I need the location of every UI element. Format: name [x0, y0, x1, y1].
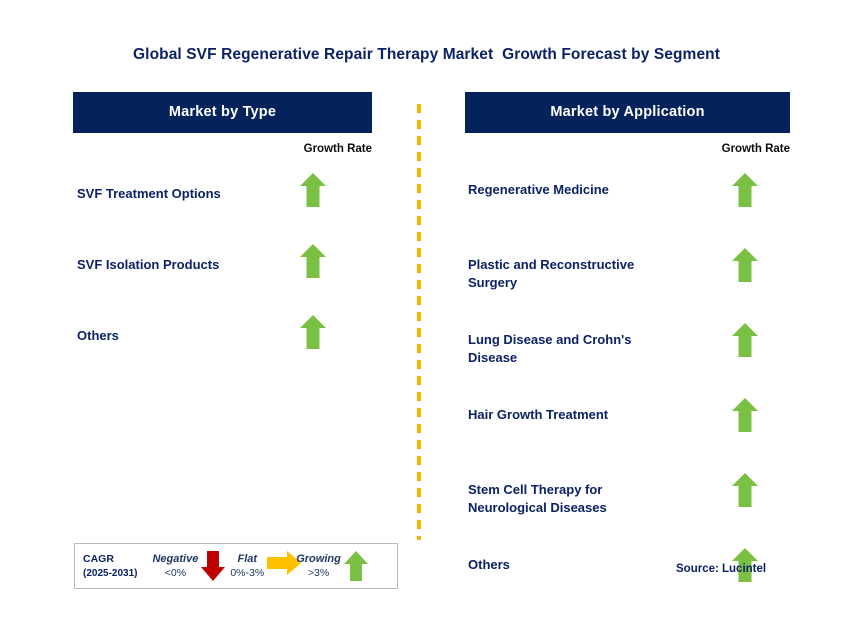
table-row: Regenerative Medicine: [465, 173, 790, 248]
legend-cagr-years: (2025-2031): [83, 568, 137, 579]
legend-box: CAGR (2025-2031) Negative <0% Flat 0%-3%: [74, 543, 398, 589]
legend-item-growing: Growing >3%: [293, 551, 368, 581]
table-row: SVF Treatment Options: [73, 173, 372, 244]
table-row: Plastic and Reconstructive Surgery: [465, 248, 790, 323]
growth-indicator-cell: [290, 173, 336, 207]
arrow-up-icon: [732, 248, 758, 282]
segment-label: Plastic and Reconstructive Surgery: [465, 248, 722, 292]
table-row: Hair Growth Treatment: [465, 398, 790, 473]
arrow-down-icon: [201, 551, 225, 581]
growth-indicator-cell: [722, 323, 768, 357]
legend-cagr-label: CAGR: [83, 553, 114, 565]
segment-rows-application: Regenerative Medicine Plastic and Recons…: [465, 173, 790, 623]
arrow-up-icon: [300, 244, 326, 278]
legend-item-flat: Flat 0%-3%: [227, 551, 291, 581]
table-row: Others: [73, 315, 372, 386]
segment-label: Others: [73, 315, 290, 345]
infographic-canvas: Global SVF Regenerative Repair Therapy M…: [0, 0, 853, 635]
arrow-right-icon: [267, 551, 291, 581]
growth-indicator-cell: [722, 248, 768, 282]
panel-market-by-application: Market by Application Growth Rate Regene…: [465, 92, 790, 133]
segment-rows-type: SVF Treatment Options SVF Isolation Prod…: [73, 173, 372, 386]
table-row: Lung Disease and Crohn's Disease: [465, 323, 790, 398]
legend-flat-text: Flat 0%-3%: [227, 552, 267, 580]
arrow-up-icon: [732, 173, 758, 207]
legend-growing-state: Growing: [296, 552, 341, 566]
growth-indicator-cell: [290, 315, 336, 349]
legend-item-negative: Negative <0%: [149, 551, 225, 581]
arrow-up-icon: [300, 315, 326, 349]
growth-rate-label-application: Growth Rate: [722, 143, 790, 155]
panel-header-market-by-application: Market by Application: [465, 92, 790, 133]
segment-label: Stem Cell Therapy for Neurological Disea…: [465, 473, 722, 517]
arrow-up-icon: [732, 323, 758, 357]
growth-indicator-cell: [290, 244, 336, 278]
growth-indicator-cell: [722, 473, 768, 507]
legend-negative-state: Negative: [152, 552, 198, 566]
source-label: Source: Lucintel: [676, 563, 766, 575]
segment-label: Regenerative Medicine: [465, 173, 722, 199]
growth-indicator-cell: [722, 173, 768, 207]
legend-cagr: CAGR (2025-2031): [75, 552, 137, 581]
table-row: Others: [465, 548, 790, 623]
legend-flat-state: Flat: [230, 552, 264, 566]
growth-indicator-cell: [722, 398, 768, 432]
legend-negative-value: <0%: [152, 566, 198, 580]
arrow-up-icon: [732, 473, 758, 507]
segment-label: SVF Isolation Products: [73, 244, 290, 274]
legend-negative-text: Negative <0%: [149, 552, 201, 580]
table-row: Stem Cell Therapy for Neurological Disea…: [465, 473, 790, 548]
legend-growing-text: Growing >3%: [293, 552, 344, 580]
legend-growing-value: >3%: [296, 566, 341, 580]
growth-rate-label-type: Growth Rate: [304, 143, 372, 155]
legend-flat-value: 0%-3%: [230, 566, 264, 580]
segment-label: Hair Growth Treatment: [465, 398, 722, 424]
segment-label: Lung Disease and Crohn's Disease: [465, 323, 722, 367]
table-row: SVF Isolation Products: [73, 244, 372, 315]
arrow-up-icon: [732, 398, 758, 432]
segment-label: SVF Treatment Options: [73, 173, 290, 203]
arrow-up-icon: [344, 551, 368, 581]
panel-market-by-type: Market by Type Growth Rate SVF Treatment…: [73, 92, 372, 133]
arrow-up-icon: [300, 173, 326, 207]
page-title: Global SVF Regenerative Repair Therapy M…: [0, 46, 853, 64]
vertical-dashed-divider: [417, 104, 421, 540]
panel-header-market-by-type: Market by Type: [73, 92, 372, 133]
